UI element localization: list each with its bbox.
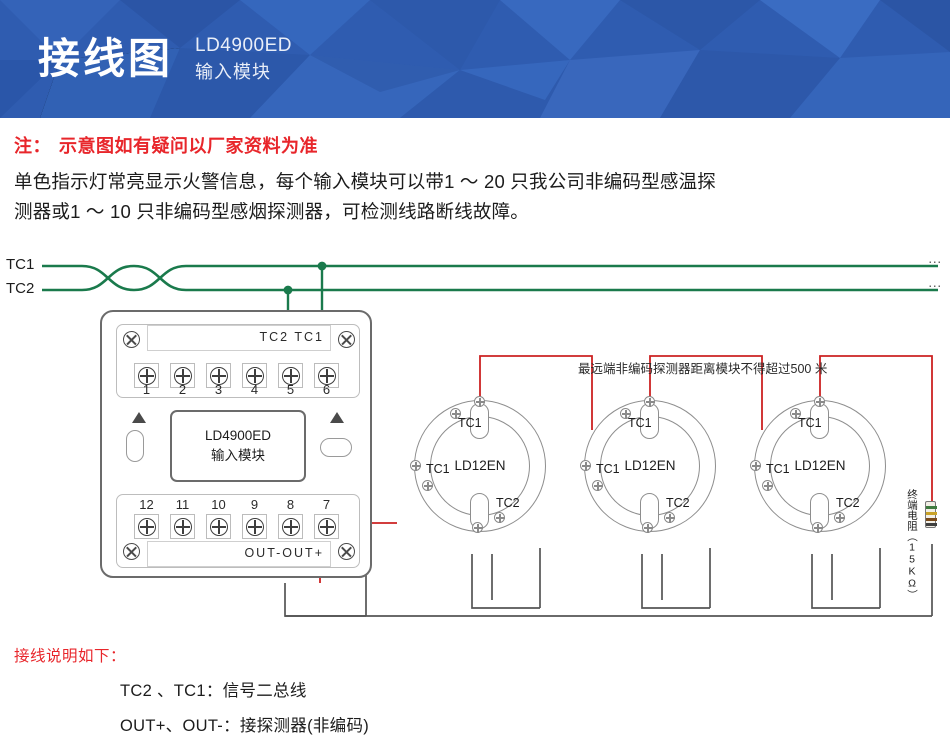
header-model: LD4900ED bbox=[195, 33, 292, 60]
detector-terminal-bottom[interactable] bbox=[812, 522, 823, 533]
detector-label-tc-bottom: TC2 bbox=[496, 496, 520, 510]
input-module: TC2 TC1 1 2 3 4 5 6 LD4900ED 输入模块 12 11 … bbox=[100, 310, 372, 578]
page-header: 接线图 LD4900ED 输入模块 bbox=[0, 0, 950, 118]
mount-screw-top-right bbox=[338, 331, 355, 348]
detector-label-tc-top: TC1 bbox=[628, 416, 652, 430]
detector-terminal-bottom-2[interactable] bbox=[494, 512, 505, 523]
detector-terminal-top[interactable] bbox=[644, 396, 655, 407]
detector-base-1: LD12EN TC1 TC1 TC2 bbox=[414, 400, 546, 532]
terminal-number: 7 bbox=[314, 497, 339, 512]
terminal-pad-11[interactable] bbox=[170, 514, 195, 539]
detector-terminal-top[interactable] bbox=[814, 396, 825, 407]
screw-icon bbox=[282, 518, 300, 536]
detector-label-tc-top: TC1 bbox=[458, 416, 482, 430]
note-line-2: 测器或1 ～ 10 只非编码型感烟探测器，可检测线路断线故障。 bbox=[14, 197, 939, 227]
detector-base-3: LD12EN TC1 TC1 TC2 bbox=[754, 400, 886, 532]
screw-icon bbox=[246, 518, 264, 536]
detector-terminal-bottom-2[interactable] bbox=[834, 512, 845, 523]
terminal-number: 4 bbox=[242, 382, 267, 397]
detector-label-tc-left: TC1 bbox=[766, 462, 790, 476]
wiring-diagram: TC1 TC2 ··· ··· TC2 TC1 1 2 3 4 5 6 bbox=[0, 248, 950, 630]
screw-icon bbox=[174, 518, 192, 536]
terminal-pad-9[interactable] bbox=[242, 514, 267, 539]
note-warning-label: 注： bbox=[14, 136, 51, 156]
detector-terminal-bottom[interactable] bbox=[642, 522, 653, 533]
terminal-block-top: TC2 TC1 1 2 3 4 5 6 bbox=[116, 324, 360, 398]
terminal-pad-12[interactable] bbox=[134, 514, 159, 539]
orientation-arrow-right bbox=[330, 412, 344, 423]
terminal-number: 6 bbox=[314, 382, 339, 397]
bus-continuation-bottom: ··· bbox=[928, 278, 942, 293]
screw-icon bbox=[318, 518, 336, 536]
resistor-band bbox=[926, 506, 937, 509]
screw-icon bbox=[210, 518, 228, 536]
mount-screw-bottom-right bbox=[338, 543, 355, 560]
detector-terminal-left[interactable] bbox=[750, 460, 761, 471]
detector-terminal-left-2[interactable] bbox=[762, 480, 773, 491]
detector-terminal-bottom-2[interactable] bbox=[664, 512, 675, 523]
legend-block: 接线说明如下： TC2 、TC1：信号二总线 OUT+、OUT-：接探测器(非编… bbox=[14, 644, 934, 736]
terminal-number: 3 bbox=[206, 382, 231, 397]
terminal-pad-7[interactable] bbox=[314, 514, 339, 539]
terminal-number: 8 bbox=[278, 497, 303, 512]
legend-title: 接线说明如下： bbox=[14, 644, 934, 666]
terminal-resistor-label: 终端电阻（15KΩ） bbox=[906, 489, 917, 600]
detector-label-tc-bottom: TC2 bbox=[666, 496, 690, 510]
detector-terminal-left[interactable] bbox=[410, 460, 421, 471]
module-model-label: LD4900ED bbox=[205, 426, 271, 446]
note-warning: 注：示意图如有疑问以厂家资料为准 bbox=[14, 132, 939, 158]
detector-label-tc-bottom: TC2 bbox=[836, 496, 860, 510]
legend-row: OUT+、OUT-：接探测器(非编码) bbox=[120, 712, 934, 736]
bus-label-tc1: TC1 bbox=[6, 256, 34, 273]
detector-terminal-left-2[interactable] bbox=[592, 480, 603, 491]
detector-terminal-top[interactable] bbox=[474, 396, 485, 407]
module-faceplate: LD4900ED 输入模块 bbox=[170, 410, 306, 482]
terminal-block-bottom: 12 11 10 9 8 7 OUT-OUT+ bbox=[116, 494, 360, 568]
terminal-header-top: TC2 TC1 bbox=[147, 325, 331, 351]
terminal-number: 2 bbox=[170, 382, 195, 397]
detector-label-tc-top: TC1 bbox=[798, 416, 822, 430]
header-model-sub: 输入模块 bbox=[195, 60, 292, 86]
bus-continuation-top: ··· bbox=[928, 254, 942, 269]
bus-label-tc2: TC2 bbox=[6, 280, 34, 297]
terminal-number: 10 bbox=[206, 497, 231, 512]
terminal-header-top-label: TC2 TC1 bbox=[260, 330, 324, 344]
screw-icon bbox=[138, 518, 156, 536]
detector-terminal-bottom[interactable] bbox=[472, 522, 483, 533]
distance-note: 最远端非编码探测器距离模块不得超过500 米 bbox=[578, 358, 827, 377]
indicator-led-right bbox=[320, 438, 352, 457]
detector-base-2: LD12EN TC1 TC1 TC2 bbox=[584, 400, 716, 532]
terminal-number: 9 bbox=[242, 497, 267, 512]
terminal-header-bottom-label: OUT-OUT+ bbox=[244, 546, 324, 560]
note-line-1: 单色指示灯常亮显示火警信息，每个输入模块可以带1 ～ 20 只我公司非编码型感温… bbox=[14, 167, 939, 197]
terminal-pad-8[interactable] bbox=[278, 514, 303, 539]
detector-label-tc-left: TC1 bbox=[426, 462, 450, 476]
resistor-band bbox=[926, 512, 937, 515]
note-warning-text: 示意图如有疑问以厂家资料为准 bbox=[59, 136, 318, 156]
resistor-band bbox=[926, 518, 937, 521]
resistor-band bbox=[926, 523, 937, 526]
indicator-led-left bbox=[126, 430, 144, 462]
terminal-number: 1 bbox=[134, 382, 159, 397]
mount-screw-top-left bbox=[123, 331, 140, 348]
note-body: 单色指示灯常亮显示火警信息，每个输入模块可以带1 ～ 20 只我公司非编码型感温… bbox=[14, 167, 939, 227]
page-title: 接线图 bbox=[38, 38, 173, 80]
legend-row: TC2 、TC1：信号二总线 bbox=[120, 677, 934, 701]
terminal-header-bottom: OUT-OUT+ bbox=[147, 541, 331, 567]
terminal-pad-10[interactable] bbox=[206, 514, 231, 539]
note-block: 注：示意图如有疑问以厂家资料为准 单色指示灯常亮显示火警信息，每个输入模块可以带… bbox=[14, 132, 939, 227]
header-subtitle: LD4900ED 输入模块 bbox=[195, 33, 292, 86]
module-type-label: 输入模块 bbox=[211, 446, 265, 466]
orientation-arrow-left bbox=[132, 412, 146, 423]
terminal-number: 11 bbox=[170, 497, 195, 512]
terminal-resistor bbox=[925, 501, 936, 528]
detector-label-tc-left: TC1 bbox=[596, 462, 620, 476]
header-text-group: 接线图 LD4900ED 输入模块 bbox=[38, 0, 292, 118]
detector-terminal-left-2[interactable] bbox=[422, 480, 433, 491]
mount-screw-bottom-left bbox=[123, 543, 140, 560]
terminal-number: 5 bbox=[278, 382, 303, 397]
detector-terminal-left[interactable] bbox=[580, 460, 591, 471]
terminal-number: 12 bbox=[134, 497, 159, 512]
